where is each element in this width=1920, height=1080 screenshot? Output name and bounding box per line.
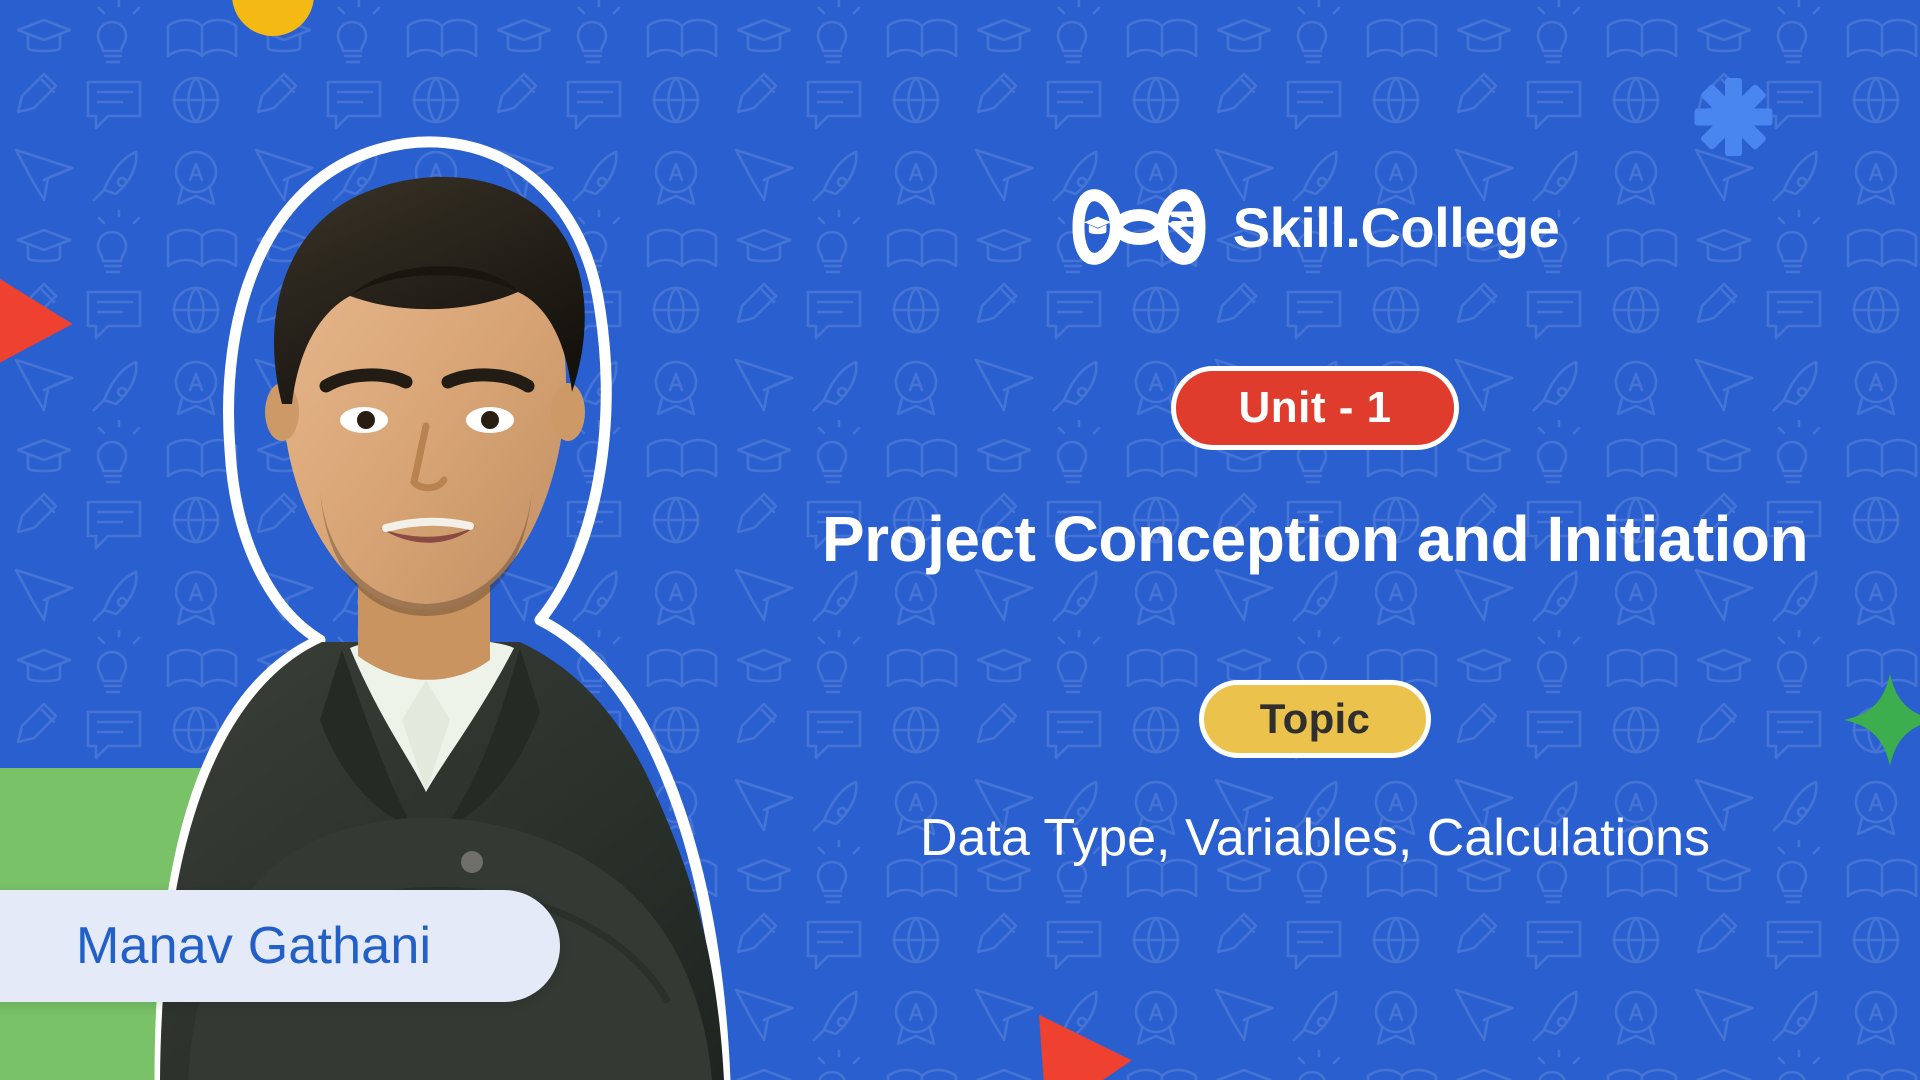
topic-badge: Topic — [1199, 680, 1431, 758]
course-title: Project Conception and Initiation — [822, 504, 1808, 576]
infinity-graduation-cap-rupee-logo-icon — [1071, 184, 1207, 270]
topic-badge-label: Topic — [1260, 695, 1370, 742]
presenter-name: Manav Gathani — [76, 916, 431, 976]
unit-badge-label: Unit - 1 — [1238, 383, 1391, 432]
presenter-nameplate: Manav Gathani — [0, 890, 560, 1002]
decor-asterisk-icon — [1694, 78, 1772, 156]
topic-text: Data Type, Variables, Calculations — [920, 808, 1710, 868]
unit-badge: Unit - 1 — [1171, 366, 1458, 450]
decor-red-triangle-bottom — [1024, 1008, 1135, 1080]
course-title-slide: Manav Gathani — [0, 0, 1920, 1080]
brand-lockup: Skill.College — [1071, 184, 1560, 270]
slide-content: Skill.College Unit - 1 Project Conceptio… — [770, 150, 1860, 990]
decor-red-triangle-left — [0, 251, 79, 381]
brand-name: Skill.College — [1233, 195, 1560, 260]
decor-yellow-circle — [232, 0, 314, 36]
